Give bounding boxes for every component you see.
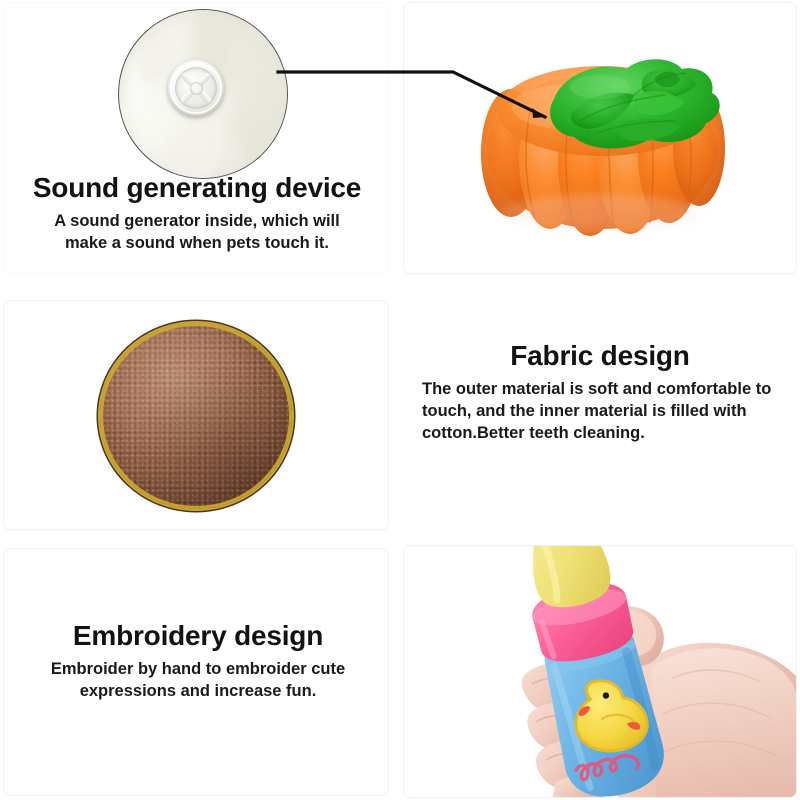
feature-text-sound-device: Sound generating device A sound generato… bbox=[14, 172, 380, 255]
feature-desc-line: The outer material is soft and comfortab… bbox=[422, 380, 771, 398]
feature-title-fabric-design: Fabric design bbox=[410, 340, 790, 372]
feature-desc-line: touch, and the inner material is filled … bbox=[422, 402, 747, 420]
feature-text-fabric-design: Fabric design The outer material is soft… bbox=[410, 340, 790, 444]
panel-sound-image-alt: Close-up circle crop of white plush inte… bbox=[4, 3, 5, 4]
feature-title-sound-device: Sound generating device bbox=[14, 172, 380, 204]
feature-desc-embroidery-design: Embroider by hand to embroider cute expr… bbox=[16, 659, 380, 703]
feature-desc-line: cotton.Better teeth cleaning. bbox=[422, 424, 645, 442]
bottle-in-hand-svg bbox=[404, 546, 797, 798]
pumpkin-illustration bbox=[404, 3, 796, 273]
squeaker-inner-disc bbox=[175, 67, 217, 109]
panel-fabric-image-alt: Circular close-up of brown terry plush f… bbox=[4, 301, 5, 302]
feature-desc-sound-device: A sound generator inside, which will mak… bbox=[14, 211, 380, 255]
squeaker-hub bbox=[190, 82, 203, 95]
feature-desc-line: Embroider by hand to embroider cute bbox=[51, 660, 345, 678]
feature-title-embroidery-design: Embroidery design bbox=[16, 620, 380, 652]
fabric-swatch-circle bbox=[100, 323, 292, 509]
feature-desc-line: make a sound when pets touch it. bbox=[65, 234, 329, 252]
panel-fabric-image: Circular close-up of brown terry plush f… bbox=[3, 300, 389, 530]
feature-desc-line: A sound generator inside, which will bbox=[54, 212, 339, 230]
feature-desc-fabric-design: The outer material is soft and comfortab… bbox=[410, 379, 790, 444]
panel-bottle-image: Blue baby-bottle plush squeaky dog toy h… bbox=[403, 545, 797, 798]
squeaker-closeup-circle bbox=[118, 9, 288, 179]
infographic-page: Close-up circle crop of white plush inte… bbox=[0, 0, 800, 800]
feature-text-embroidery-design: Embroidery design Embroider by hand to e… bbox=[16, 620, 380, 703]
pumpkin-drop-shadow bbox=[496, 193, 706, 233]
panel-pumpkin-image: Orange pumpkin plush squeaky dog toy bbox=[403, 2, 797, 274]
feature-desc-line: expressions and increase fun. bbox=[80, 682, 317, 700]
squeaker-device-icon bbox=[168, 60, 224, 116]
bottle-illustration bbox=[404, 546, 796, 797]
pumpkin-svg bbox=[404, 3, 797, 274]
